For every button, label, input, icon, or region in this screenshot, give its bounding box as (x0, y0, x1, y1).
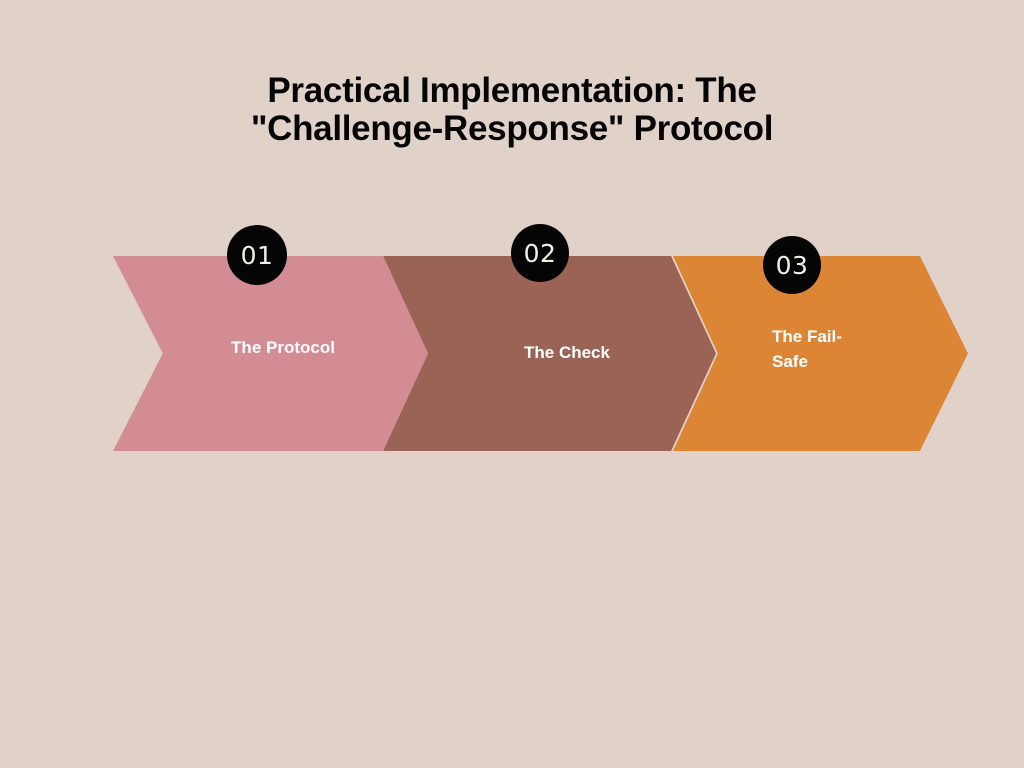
process-step-2-badge: 02 (511, 224, 569, 282)
process-step-3-number: 03 (776, 253, 809, 278)
process-step-2-label: The Check (457, 340, 677, 365)
process-step-2-number: 02 (524, 241, 557, 266)
chevron-process-diagram: The Protocol The Check The Fail- Safe 01… (0, 0, 1024, 768)
slide-canvas: Practical Implementation: The "Challenge… (0, 0, 1024, 768)
process-step-1-badge: 01 (227, 225, 287, 285)
process-step-3-label: The Fail- Safe (772, 324, 868, 374)
process-step-3-badge: 03 (763, 236, 821, 294)
process-step-1-label: The Protocol (173, 335, 393, 360)
process-step-1-number: 01 (241, 243, 274, 268)
